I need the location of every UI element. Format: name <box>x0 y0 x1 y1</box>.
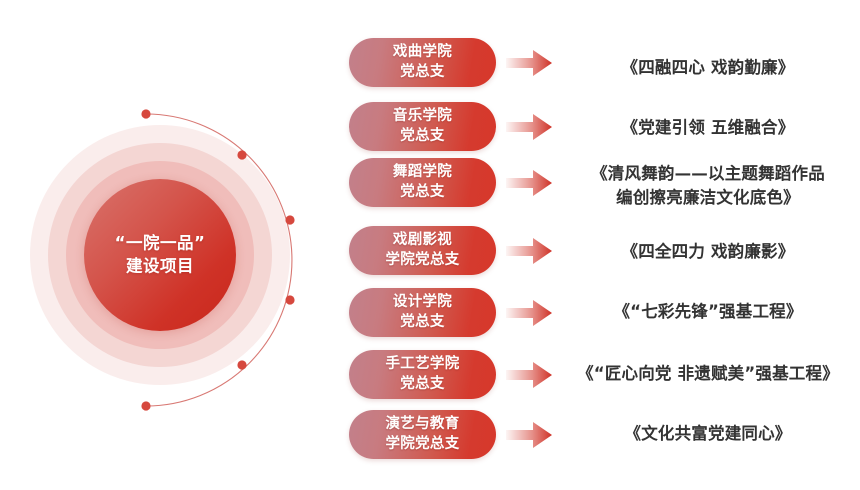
project-title-2: 《党建引领 五维融合》 <box>562 116 854 140</box>
pill-department-5[interactable]: 设计学院 党总支 <box>349 288 496 337</box>
orbit-dot <box>141 109 150 118</box>
arrow-right-icon <box>506 362 552 388</box>
orbit-dot <box>237 150 246 159</box>
pill-label: 戏剧影视 学院党总支 <box>386 231 460 270</box>
pill-label: 舞蹈学院 党总支 <box>393 163 452 202</box>
project-title-7: 《文化共富党建同心》 <box>562 422 854 446</box>
pill-label: 设计学院 党总支 <box>393 293 452 332</box>
orbit-dot <box>237 360 246 369</box>
pill-label: 戏曲学院 党总支 <box>393 43 452 82</box>
pill-department-1[interactable]: 戏曲学院 党总支 <box>349 38 496 87</box>
project-title-6: 《“匠心向党 非遗赋美”强基工程》 <box>558 362 858 386</box>
project-title-1: 《四融四心 戏韵勤廉》 <box>562 56 854 80</box>
arrow-right-icon <box>506 422 552 448</box>
pill-label: 演艺与教育 学院党总支 <box>386 415 460 454</box>
arrow-right-icon <box>506 238 552 264</box>
pill-department-6[interactable]: 手工艺学院 党总支 <box>349 350 496 399</box>
orbit-arc <box>20 110 340 410</box>
orbit-arc-path <box>146 114 292 406</box>
project-title-5: 《“七彩先锋”强基工程》 <box>562 300 854 324</box>
project-title-3: 《清风舞韵——以主题舞蹈作品 编创擦亮廉洁文化底色》 <box>562 162 854 210</box>
arrow-right-icon <box>506 170 552 196</box>
pill-department-7[interactable]: 演艺与教育 学院党总支 <box>349 410 496 459</box>
arrow-right-icon <box>506 114 552 140</box>
orbit-dot <box>285 295 294 304</box>
pill-label: 手工艺学院 党总支 <box>386 355 460 394</box>
pill-department-3[interactable]: 舞蹈学院 党总支 <box>349 158 496 207</box>
arrow-right-icon <box>506 50 552 76</box>
orbit-dot <box>285 215 294 224</box>
arrow-right-icon <box>506 300 552 326</box>
pill-department-2[interactable]: 音乐学院 党总支 <box>349 102 496 151</box>
pill-department-4[interactable]: 戏剧影视 学院党总支 <box>349 226 496 275</box>
project-title-4: 《四全四力 戏韵廉影》 <box>562 240 854 264</box>
orbit-dot <box>141 401 150 410</box>
pill-label: 音乐学院 党总支 <box>393 107 452 146</box>
slide-canvas: “一院一品” 建设项目 戏曲学院 党总支 《四融四心 戏韵勤廉》 音乐学院 党总… <box>0 0 860 490</box>
